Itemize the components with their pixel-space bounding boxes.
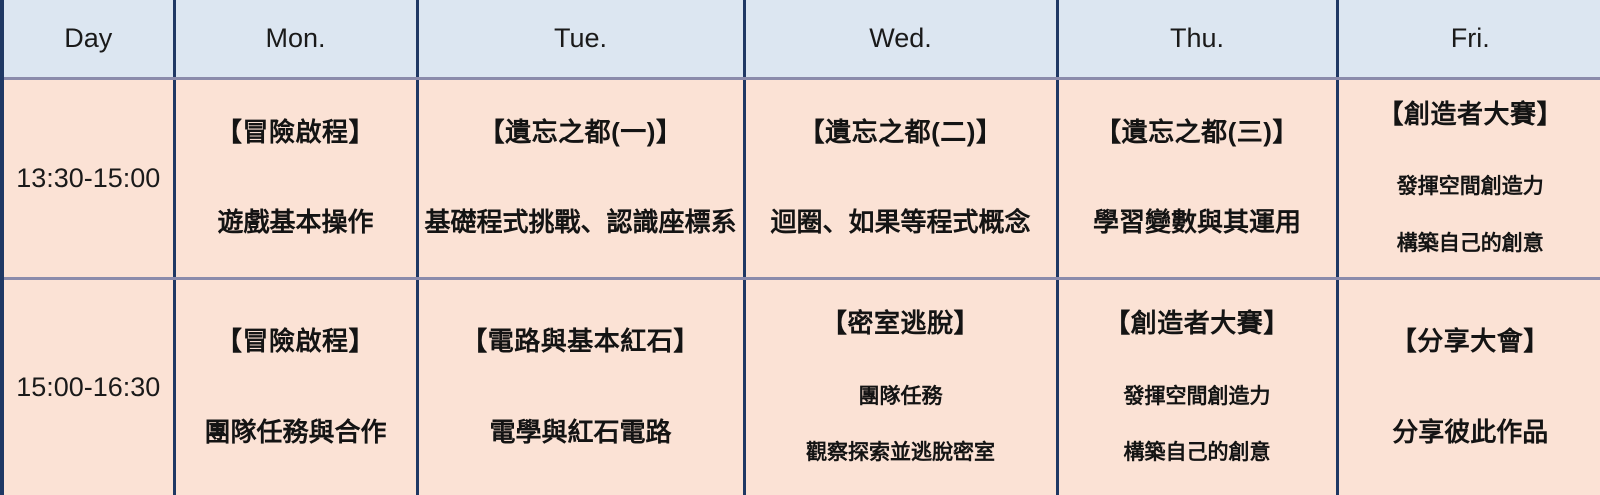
course-cell-thu-2: 【創造者大賽】 發揮空間創造力 構築自己的創意 <box>1057 278 1337 495</box>
course-description: 觀察探索並逃脫密室 <box>806 440 995 466</box>
course-description: 遊戲基本操作 <box>217 206 373 239</box>
course-description: 迴圈、如果等程式概念 <box>770 206 1030 239</box>
course-description-block: 發揮空間創造力 構築自己的創意 <box>1124 384 1271 467</box>
course-description: 分享彼此作品 <box>1392 416 1548 449</box>
course-description-block: 團隊任務 觀察探索並逃脫密室 <box>806 384 995 467</box>
column-header-day: Day <box>2 0 174 78</box>
column-header-thu: Thu. <box>1057 0 1337 78</box>
course-cell-tue-2: 【電路與基本紅石】 電學與紅石電路 <box>417 278 744 495</box>
course-title: 【冒險啟程】 <box>216 326 375 357</box>
course-title: 【創造者大賽】 <box>1104 308 1290 339</box>
course-title: 【密室逃脫】 <box>821 308 980 339</box>
course-description: 發揮空間創造力 <box>1397 174 1544 200</box>
course-cell-fri-2: 【分享大會】 分享彼此作品 <box>1337 278 1600 495</box>
course-description: 基礎程式挑戰、認識座標系 <box>424 206 736 239</box>
column-header-mon: Mon. <box>174 0 417 78</box>
course-title: 【遺忘之都(三)】 <box>1095 117 1299 148</box>
course-description: 構築自己的創意 <box>1124 440 1271 466</box>
column-header-wed: Wed. <box>744 0 1057 78</box>
table-header-row: Day Mon. Tue. Wed. Thu. Fri. <box>2 0 1600 78</box>
course-cell-wed-2: 【密室逃脫】 團隊任務 觀察探索並逃脫密室 <box>744 278 1057 495</box>
course-description: 構築自己的創意 <box>1397 231 1544 257</box>
course-title: 【創造者大賽】 <box>1377 99 1563 130</box>
course-cell-tue-1: 【遺忘之都(一)】 基礎程式挑戰、認識座標系 <box>417 78 744 278</box>
course-description-block: 發揮空間創造力 構築自己的創意 <box>1397 174 1544 257</box>
course-cell-thu-1: 【遺忘之都(三)】 學習變數與其運用 <box>1057 78 1337 278</box>
course-cell-mon-2: 【冒險啟程】 團隊任務與合作 <box>174 278 417 495</box>
course-description: 發揮空間創造力 <box>1124 384 1271 410</box>
course-cell-mon-1: 【冒險啟程】 遊戲基本操作 <box>174 78 417 278</box>
course-title: 【分享大會】 <box>1391 326 1550 357</box>
table-row: 13:30-15:00 【冒險啟程】 遊戲基本操作 【遺忘之都(一)】 基礎程式… <box>2 78 1600 278</box>
course-title: 【電路與基本紅石】 <box>461 326 700 357</box>
course-description: 學習變數與其運用 <box>1093 206 1301 239</box>
course-cell-wed-1: 【遺忘之都(二)】 迴圈、如果等程式概念 <box>744 78 1057 278</box>
column-header-fri: Fri. <box>1337 0 1600 78</box>
course-title: 【遺忘之都(一)】 <box>479 117 683 148</box>
time-slot-label: 13:30-15:00 <box>2 78 174 278</box>
course-description: 團隊任務 <box>859 384 943 410</box>
time-slot-label: 15:00-16:30 <box>2 278 174 495</box>
course-title: 【冒險啟程】 <box>216 117 375 148</box>
column-header-tue: Tue. <box>417 0 744 78</box>
course-description: 電學與紅石電路 <box>489 416 671 449</box>
table-row: 15:00-16:30 【冒險啟程】 團隊任務與合作 【電路與基本紅石】 電學與… <box>2 278 1600 495</box>
course-schedule-table: Day Mon. Tue. Wed. Thu. Fri. 13:30-15:00… <box>0 0 1600 495</box>
course-title: 【遺忘之都(二)】 <box>799 117 1003 148</box>
course-cell-fri-1: 【創造者大賽】 發揮空間創造力 構築自己的創意 <box>1337 78 1600 278</box>
course-description: 團隊任務與合作 <box>204 416 386 449</box>
